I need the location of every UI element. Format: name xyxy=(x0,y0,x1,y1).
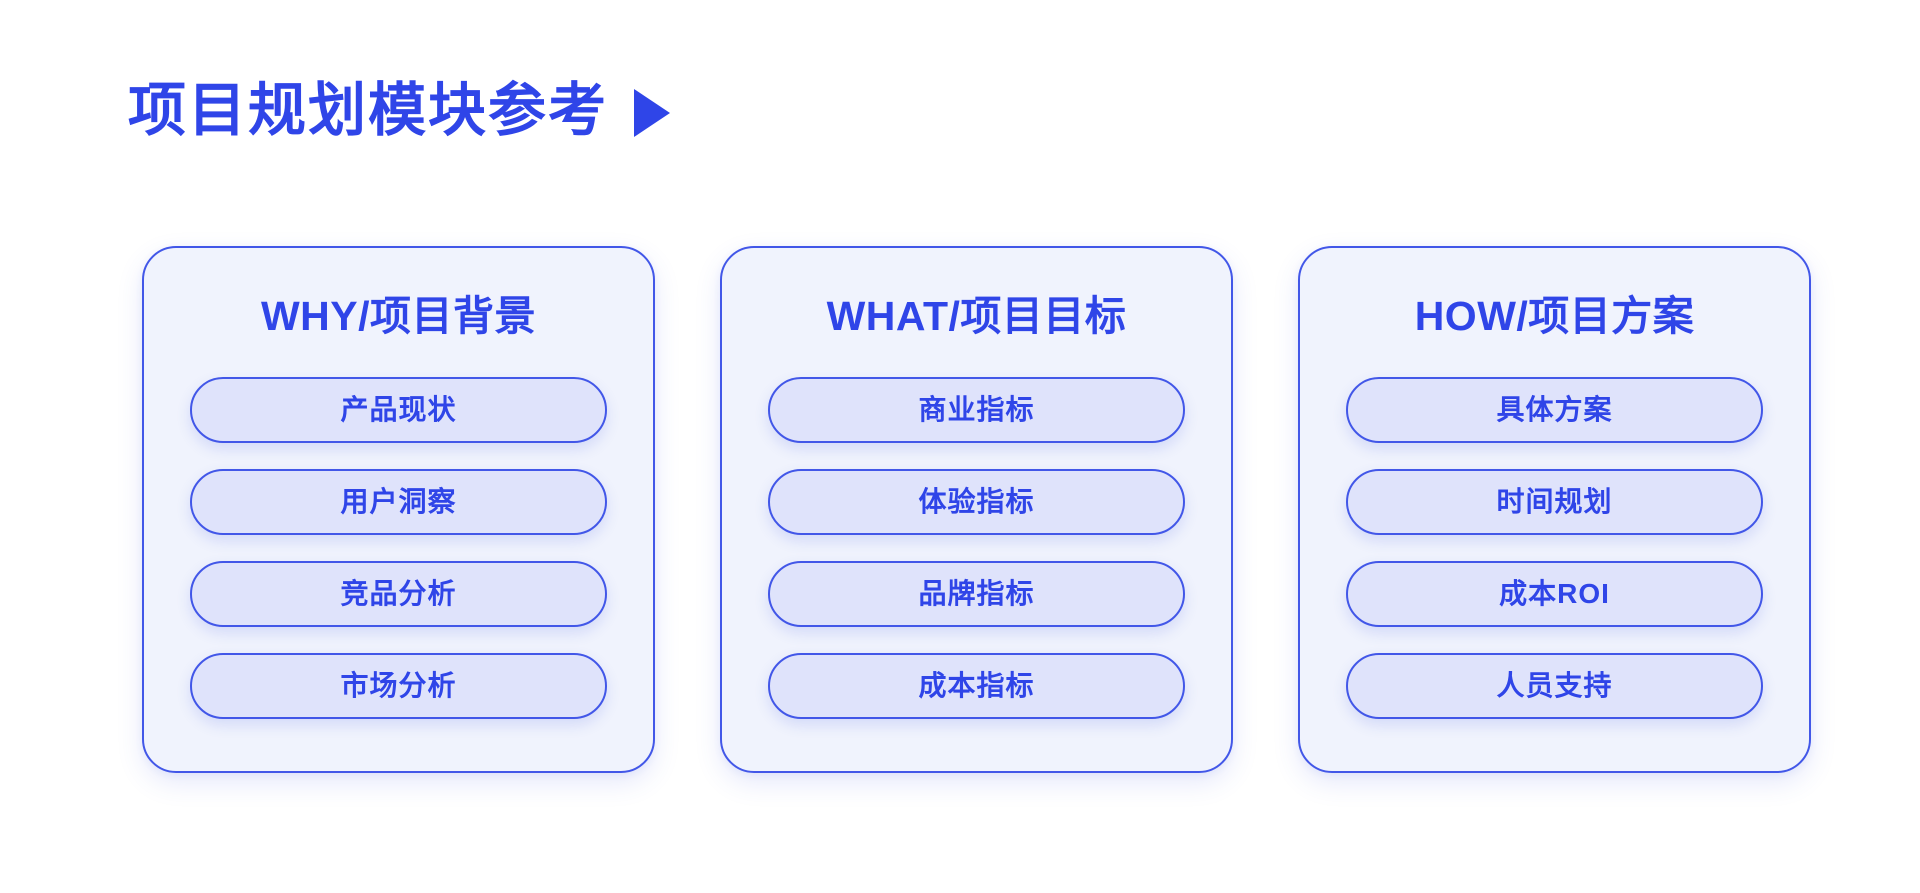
page-title: 项目规划模块参考 xyxy=(128,82,608,140)
module-item-pill[interactable]: 成本指标 xyxy=(768,653,1185,719)
module-item-label: 市场分析 xyxy=(340,672,456,700)
module-item-label: 产品现状 xyxy=(340,396,456,424)
module-card-title: HOW/项目方案 xyxy=(1346,294,1763,339)
module-item-label: 具体方案 xyxy=(1496,396,1612,424)
module-item-pill[interactable]: 成本ROI xyxy=(1346,561,1763,627)
module-card-how: HOW/项目方案 具体方案 时间规划 成本ROI 人员支持 xyxy=(1298,246,1811,773)
module-card-title: WHY/项目背景 xyxy=(190,294,607,339)
page-header: 项目规划模块参考 xyxy=(128,72,670,150)
module-item-pill[interactable]: 竞品分析 xyxy=(190,561,607,627)
project-planning-reference-page: 项目规划模块参考 WHY/项目背景 产品现状 用户洞察 竞品分析 市场分析 xyxy=(0,0,1920,893)
module-item-pill[interactable]: 具体方案 xyxy=(1346,377,1763,443)
module-item-pill[interactable]: 人员支持 xyxy=(1346,653,1763,719)
module-item-label: 成本ROI xyxy=(1499,580,1610,608)
module-item-list: 产品现状 用户洞察 竞品分析 市场分析 xyxy=(190,377,607,719)
module-card-why: WHY/项目背景 产品现状 用户洞察 竞品分析 市场分析 xyxy=(142,246,655,773)
module-cards-row: WHY/项目背景 产品现状 用户洞察 竞品分析 市场分析 WHAT/项目目标 xyxy=(142,246,1811,773)
module-item-label: 人员支持 xyxy=(1496,672,1612,700)
play-triangle-right-icon xyxy=(634,89,670,137)
module-item-label: 体验指标 xyxy=(918,488,1034,516)
module-item-list: 具体方案 时间规划 成本ROI 人员支持 xyxy=(1346,377,1763,719)
module-item-label: 时间规划 xyxy=(1496,488,1612,516)
module-item-pill[interactable]: 用户洞察 xyxy=(190,469,607,535)
module-item-label: 成本指标 xyxy=(918,672,1034,700)
module-item-pill[interactable]: 商业指标 xyxy=(768,377,1185,443)
module-card-what: WHAT/项目目标 商业指标 体验指标 品牌指标 成本指标 xyxy=(720,246,1233,773)
module-item-pill[interactable]: 品牌指标 xyxy=(768,561,1185,627)
module-item-list: 商业指标 体验指标 品牌指标 成本指标 xyxy=(768,377,1185,719)
module-item-pill[interactable]: 市场分析 xyxy=(190,653,607,719)
module-card-title: WHAT/项目目标 xyxy=(768,294,1185,339)
module-item-pill[interactable]: 体验指标 xyxy=(768,469,1185,535)
module-item-pill[interactable]: 时间规划 xyxy=(1346,469,1763,535)
module-item-label: 商业指标 xyxy=(918,396,1034,424)
module-item-label: 品牌指标 xyxy=(918,580,1034,608)
module-item-label: 竞品分析 xyxy=(340,580,456,608)
module-item-label: 用户洞察 xyxy=(340,488,456,516)
module-item-pill[interactable]: 产品现状 xyxy=(190,377,607,443)
